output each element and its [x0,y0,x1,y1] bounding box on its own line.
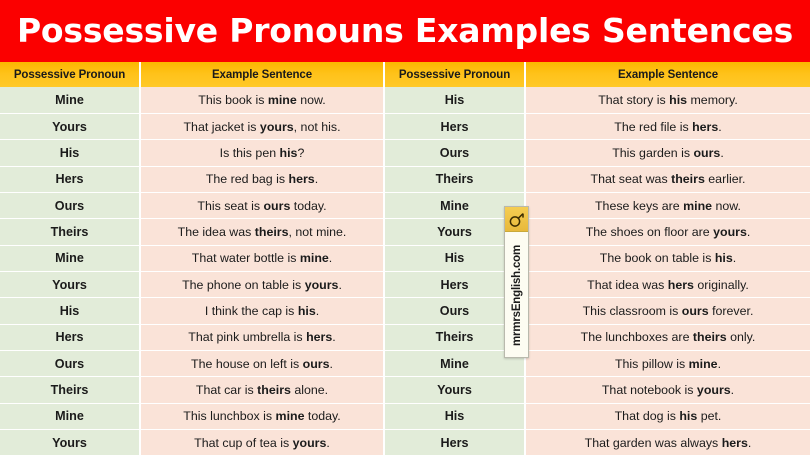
cell-sentence-left: That car is theirs alone. [140,377,384,403]
title-banner: Possessive Pronouns Examples Sentences [0,0,810,62]
table-row: HisIs this pen his?OursThis garden is ou… [0,140,810,166]
table-header: Possessive Pronoun Example Sentence Poss… [0,62,810,87]
cell-sentence-right: This garden is ours. [525,140,810,166]
cell-sentence-right: That notebook is yours. [525,377,810,403]
cell-pronoun-left: Yours [0,271,140,297]
cell-pronoun-right: Theirs [384,166,525,192]
table-row: YoursThat cup of tea is yours.HersThat g… [0,429,810,455]
cell-sentence-right: That idea was hers originally. [525,271,810,297]
mars-circle-logo-icon [505,207,528,232]
table-row: MineThis lunchbox is mine today.HisThat … [0,403,810,429]
highlighted-pronoun: theirs [257,383,291,397]
cell-pronoun-left: Hers [0,324,140,350]
cell-pronoun-left: Ours [0,350,140,376]
highlighted-pronoun: theirs [671,172,705,186]
cell-pronoun-right: Hers [384,113,525,139]
cell-pronoun-right: Ours [384,140,525,166]
highlighted-pronoun: hers [722,436,748,450]
highlighted-pronoun: mine [683,199,712,213]
table-row: YoursThat jacket is yours, not his.HersT… [0,113,810,139]
table-row: OursThis seat is ours today.MineThese ke… [0,192,810,218]
column-header-sentence-left: Example Sentence [140,62,384,87]
highlighted-pronoun: his [298,304,316,318]
cell-sentence-left: The house on left is ours. [140,350,384,376]
table-row: TheirsThe idea was theirs, not mine.Your… [0,219,810,245]
highlighted-pronoun: ours [303,357,330,371]
table-row: MineThis book is mine now.HisThat story … [0,87,810,113]
cell-sentence-left: That water bottle is mine. [140,245,384,271]
cell-sentence-left: I think the cap is his. [140,298,384,324]
cell-pronoun-left: Hers [0,166,140,192]
highlighted-pronoun: yours [293,436,327,450]
table-row: MineThat water bottle is mine.HisThe boo… [0,245,810,271]
highlighted-pronoun: yours [260,120,294,134]
cell-pronoun-right: Hers [384,429,525,455]
highlighted-pronoun: ours [682,304,709,318]
highlighted-pronoun: yours [713,225,747,239]
cell-sentence-left: This lunchbox is mine today. [140,403,384,429]
cell-sentence-left: The red bag is hers. [140,166,384,192]
table-row: TheirsThat car is theirs alone.YoursThat… [0,377,810,403]
highlighted-pronoun: yours [697,383,731,397]
table-row: HisI think the cap is his.OursThis class… [0,298,810,324]
cell-sentence-right: That garden was always hers. [525,429,810,455]
infographic-page: Possessive Pronouns Examples Sentences P… [0,0,810,456]
cell-pronoun-left: Mine [0,87,140,113]
page-title: Possessive Pronouns Examples Sentences [17,14,793,49]
cell-sentence-right: This classroom is ours forever. [525,298,810,324]
cell-sentence-right: The book on table is his. [525,245,810,271]
highlighted-pronoun: mine [300,251,329,265]
cell-sentence-left: The phone on table is yours. [140,271,384,297]
cell-pronoun-left: Yours [0,113,140,139]
highlighted-pronoun: hers [668,278,694,292]
watermark-text: mrmrsEnglish.com [511,245,523,346]
column-header-pronoun-right: Possessive Pronoun [384,62,525,87]
cell-sentence-left: That cup of tea is yours. [140,429,384,455]
cell-sentence-right: That dog is his pet. [525,403,810,429]
cell-pronoun-left: Yours [0,429,140,455]
cell-sentence-left: That pink umbrella is hers. [140,324,384,350]
cell-pronoun-left: Theirs [0,219,140,245]
table-row: HersThat pink umbrella is hers.TheirsThe… [0,324,810,350]
column-header-pronoun-left: Possessive Pronoun [0,62,140,87]
cell-sentence-right: The lunchboxes are theirs only. [525,324,810,350]
highlighted-pronoun: ours [263,199,290,213]
highlighted-pronoun: theirs [693,330,727,344]
cell-sentence-left: This book is mine now. [140,87,384,113]
highlighted-pronoun: yours [305,278,339,292]
cell-sentence-left: Is this pen his? [140,140,384,166]
cell-sentence-right: This pillow is mine. [525,350,810,376]
header-row: Possessive Pronoun Example Sentence Poss… [0,62,810,87]
cell-pronoun-left: Mine [0,403,140,429]
table-row: YoursThe phone on table is yours.HersTha… [0,271,810,297]
table-row: HersThe red bag is hers.TheirsThat seat … [0,166,810,192]
highlighted-pronoun: hers [306,330,332,344]
cell-sentence-right: That story is his memory. [525,87,810,113]
highlighted-pronoun: mine [268,93,297,107]
highlighted-pronoun: mine [689,357,718,371]
cell-sentence-right: These keys are mine now. [525,192,810,218]
highlighted-pronoun: his [679,409,697,423]
pronouns-table-container: Possessive Pronoun Example Sentence Poss… [0,62,810,456]
watermark-badge: mrmrsEnglish.com [504,206,529,358]
watermark-text-wrap: mrmrsEnglish.com [505,232,528,358]
cell-sentence-right: The shoes on floor are yours. [525,219,810,245]
cell-pronoun-left: Ours [0,192,140,218]
cell-pronoun-right: His [384,87,525,113]
table-row: OursThe house on left is ours.MineThis p… [0,350,810,376]
cell-sentence-right: The red file is hers. [525,113,810,139]
cell-pronoun-right: Yours [384,377,525,403]
highlighted-pronoun: his [715,251,733,265]
cell-pronoun-left: His [0,140,140,166]
cell-pronoun-left: Theirs [0,377,140,403]
highlighted-pronoun: theirs [255,225,289,239]
pronouns-table: Possessive Pronoun Example Sentence Poss… [0,62,810,456]
highlighted-pronoun: ours [693,146,720,160]
cell-sentence-left: The idea was theirs, not mine. [140,219,384,245]
highlighted-pronoun: mine [276,409,305,423]
table-body: MineThis book is mine now.HisThat story … [0,87,810,456]
cell-sentence-right: That seat was theirs earlier. [525,166,810,192]
column-header-sentence-right: Example Sentence [525,62,810,87]
highlighted-pronoun: his [280,146,298,160]
cell-sentence-left: This seat is ours today. [140,192,384,218]
highlighted-pronoun: hers [692,120,718,134]
cell-sentence-left: That jacket is yours, not his. [140,113,384,139]
cell-pronoun-left: His [0,298,140,324]
cell-pronoun-right: His [384,403,525,429]
highlighted-pronoun: hers [289,172,315,186]
highlighted-pronoun: his [669,93,687,107]
cell-pronoun-left: Mine [0,245,140,271]
